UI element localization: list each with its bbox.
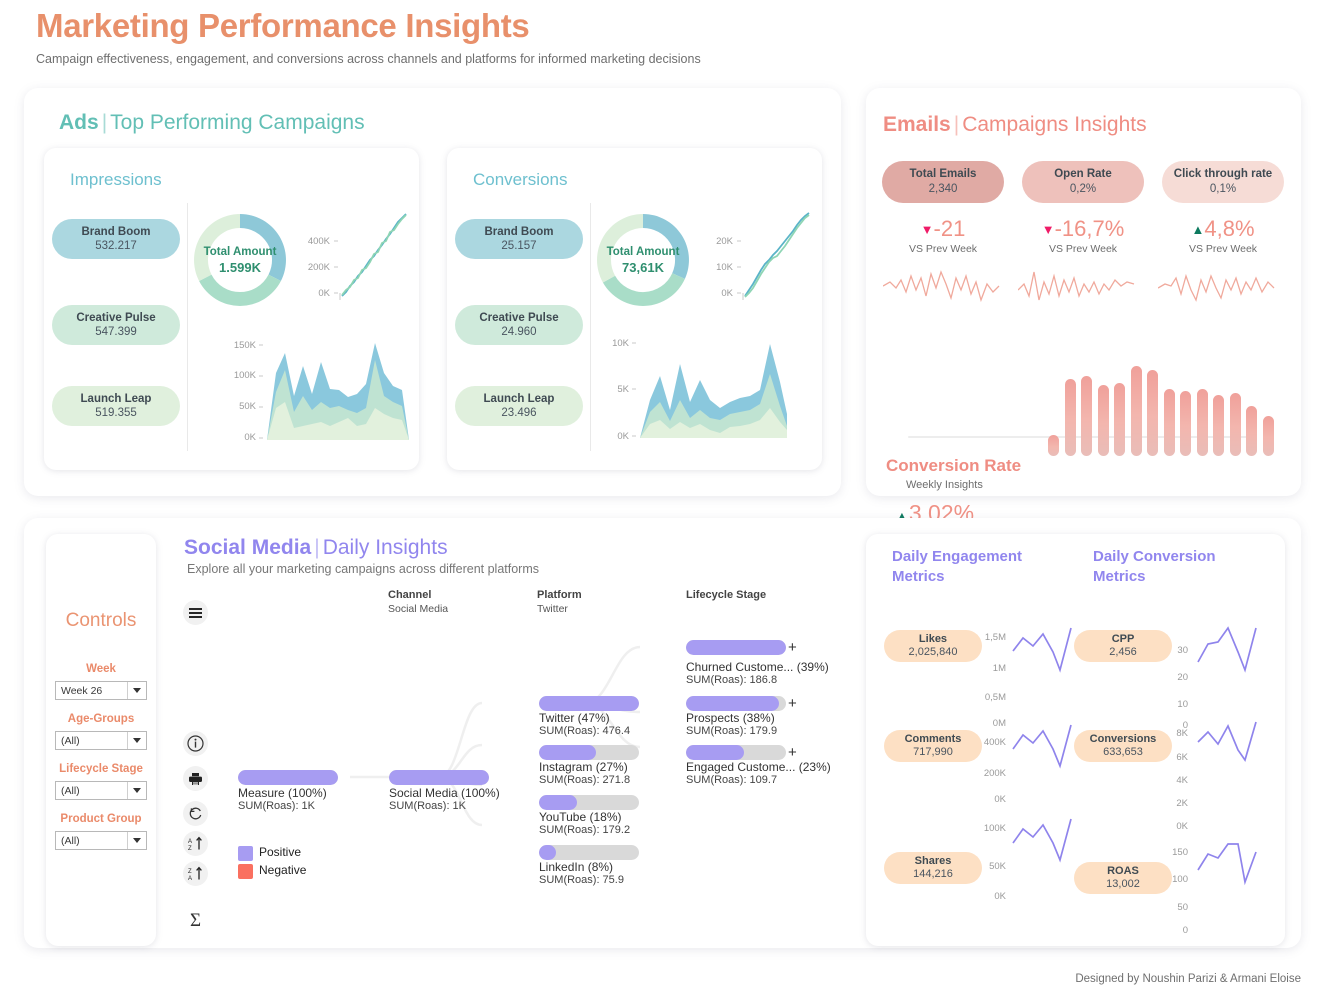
conversions-donut-chart: Total Amount 73,61K bbox=[588, 205, 698, 315]
emails-section-title: Emails|Campaigns Insights bbox=[883, 113, 1147, 137]
filter-value: Week 26 bbox=[56, 685, 127, 697]
emails-title-rest: Campaigns Insights bbox=[962, 113, 1146, 136]
conversion-rate-subtitle: Weekly Insights bbox=[906, 479, 983, 491]
impressions-area-chart: 150K 100K 50K 0K bbox=[214, 340, 414, 454]
ads-section-title: Ads|Top Performing Campaigns bbox=[59, 111, 365, 135]
social-title-bold: Social Media bbox=[184, 536, 311, 559]
kpi-name: Open Rate bbox=[1054, 167, 1112, 182]
campaign-pill-creative-pulse[interactable]: Creative Pulse 547.399 bbox=[52, 305, 180, 345]
sankey-value-churned-customers: SUM(Roas): 186.8 bbox=[686, 674, 777, 686]
sankey-value-engaged-customers: SUM(Roas): 109.7 bbox=[686, 774, 777, 786]
axis-tick: 50 bbox=[1160, 902, 1188, 913]
sparkline-likes bbox=[1011, 626, 1073, 674]
conversion-rate-bar bbox=[1180, 391, 1191, 456]
social-section-title: Social Media|Daily Insights bbox=[184, 536, 448, 560]
sankey-label-instagram: Instagram (27%) bbox=[539, 760, 628, 774]
filter-label-age-groups: Age-Groups bbox=[46, 713, 156, 725]
campaign-pill-launch-leap[interactable]: Launch Leap 23.496 bbox=[455, 386, 583, 426]
axis-tick: 2K bbox=[1160, 798, 1188, 809]
sankey-label-linkedin: LinkedIn (8%) bbox=[539, 860, 613, 874]
donut-value: 1.599K bbox=[185, 260, 295, 276]
social-title-sep: | bbox=[314, 536, 319, 559]
expand-icon[interactable]: + bbox=[788, 639, 797, 656]
metric-value: 144,216 bbox=[913, 868, 953, 881]
expand-icon[interactable]: + bbox=[788, 744, 797, 761]
kpi-name: Click through rate bbox=[1174, 167, 1272, 182]
sparkline-click-through-rate bbox=[1158, 270, 1278, 310]
axis-tick: 0K bbox=[970, 794, 1006, 805]
chevron-down-icon[interactable] bbox=[127, 682, 146, 699]
axis-tick: 200K bbox=[970, 768, 1006, 779]
axis-tick: 100K bbox=[970, 823, 1006, 834]
sankey-value-social-media: SUM(Roas): 1K bbox=[389, 800, 466, 812]
kpi-value: 0,1% bbox=[1210, 182, 1236, 197]
campaign-name: Brand Boom bbox=[82, 225, 151, 239]
conversion-rate-bar bbox=[1164, 389, 1175, 456]
campaign-pill-creative-pulse[interactable]: Creative Pulse 24.960 bbox=[455, 305, 583, 345]
conversions-title: Conversions bbox=[473, 170, 568, 190]
sparkline-cpp bbox=[1196, 626, 1258, 674]
metric-pill-comments[interactable]: Comments 717,990 bbox=[884, 730, 982, 762]
sankey-node-fill bbox=[686, 696, 779, 711]
metric-value: 2,025,840 bbox=[909, 646, 958, 659]
filter-label-lifecycle-stage: Lifecycle Stage bbox=[46, 763, 156, 775]
sankey-label-youtube: YouTube (18%) bbox=[539, 810, 622, 824]
metric-pill-shares[interactable]: Shares 144,216 bbox=[884, 852, 982, 884]
conversion-rate-bar bbox=[1147, 370, 1158, 456]
campaign-name: Creative Pulse bbox=[76, 311, 155, 325]
menu-icon[interactable] bbox=[183, 600, 208, 625]
axis-tick: 6K bbox=[1160, 752, 1188, 763]
axis-tick: 30 bbox=[1160, 645, 1188, 656]
sankey-value-prospects: SUM(Roas): 179.9 bbox=[686, 725, 777, 737]
svg-text:A: A bbox=[188, 839, 192, 845]
kpi-value: 0,2% bbox=[1070, 182, 1096, 197]
kpi-pill-open-rate[interactable]: Open Rate 0,2% bbox=[1022, 161, 1144, 203]
legend-label-positive: Positive bbox=[259, 845, 301, 859]
sankey-node-fill bbox=[539, 745, 596, 760]
donut-caption: Total Amount bbox=[588, 244, 698, 260]
conversion-rate-bar bbox=[1213, 395, 1224, 456]
conversion-rate-title: Conversion Rate bbox=[886, 456, 1021, 476]
svg-text:Z: Z bbox=[188, 869, 192, 875]
campaign-value: 519.355 bbox=[95, 406, 137, 420]
axis-tick: 0,5M bbox=[970, 692, 1006, 703]
daily-conversion-heading: Daily Conversion Metrics bbox=[1093, 547, 1233, 587]
axis-tick: 4K bbox=[1160, 775, 1188, 786]
sankey-value-twitter: SUM(Roas): 476.4 bbox=[539, 725, 630, 737]
metric-name: CPP bbox=[1112, 633, 1135, 646]
controls-panel: Controls Week Week 26 Age-Groups (All) L… bbox=[46, 534, 156, 946]
axis-tick: 8K bbox=[1160, 728, 1188, 739]
chevron-down-icon[interactable] bbox=[127, 782, 146, 799]
conversion-rate-bar bbox=[1065, 379, 1076, 456]
impressions-title: Impressions bbox=[70, 170, 162, 190]
sankey-node-fill bbox=[686, 640, 786, 655]
sankey-node-fill bbox=[539, 795, 577, 810]
campaign-value: 547.399 bbox=[95, 325, 137, 339]
dashboard-root: Marketing Performance Insights Campaign … bbox=[0, 0, 1325, 989]
sankey-col-head-lifecycle: Lifecycle Stage bbox=[686, 589, 766, 601]
axis-tick: 1M bbox=[970, 663, 1006, 674]
sankey-node-linkedin[interactable] bbox=[539, 845, 639, 860]
conversion-rate-bar bbox=[1197, 389, 1208, 456]
sankey-label-churned-customers: Churned Custome... (39%) bbox=[686, 660, 829, 674]
conversions-line-chart: 20K 10K 0K bbox=[697, 210, 815, 310]
metric-value: 13,002 bbox=[1106, 878, 1140, 891]
filter-select-week[interactable]: Week 26 bbox=[55, 681, 147, 700]
filter-value: (All) bbox=[56, 735, 127, 747]
campaign-value: 25.157 bbox=[501, 239, 536, 253]
page-title: Marketing Performance Insights bbox=[36, 6, 701, 46]
campaign-name: Brand Boom bbox=[485, 225, 554, 239]
filter-select-product-group[interactable]: (All) bbox=[55, 831, 147, 850]
sankey-node-fill bbox=[686, 745, 744, 760]
impressions-donut-label: Total Amount 1.599K bbox=[185, 244, 295, 276]
print-icon[interactable] bbox=[183, 766, 208, 791]
svg-text:A: A bbox=[188, 876, 192, 881]
filter-label-week: Week bbox=[46, 663, 156, 675]
info-icon[interactable] bbox=[183, 731, 208, 756]
sankey-node-social-media[interactable] bbox=[389, 770, 489, 785]
delta-caption: VS Prev Week bbox=[1158, 243, 1288, 255]
sparkline-shares bbox=[1011, 817, 1073, 865]
campaign-pill-launch-leap[interactable]: Launch Leap 519.355 bbox=[52, 386, 180, 426]
filter-value: (All) bbox=[56, 835, 127, 847]
metric-value: 633,653 bbox=[1103, 746, 1143, 759]
controls-title: Controls bbox=[46, 610, 156, 632]
axis-tick: 0M bbox=[970, 718, 1006, 729]
sankey-value-instagram: SUM(Roas): 271.8 bbox=[539, 774, 630, 786]
sparkline-comments bbox=[1011, 723, 1073, 771]
metric-name: Shares bbox=[915, 855, 952, 868]
sankey-label-engaged-customers: Engaged Custome... (23%) bbox=[686, 760, 831, 774]
axis-tick: 0K bbox=[1160, 821, 1188, 832]
sankey-node-twitter[interactable] bbox=[539, 696, 639, 711]
filter-select-age-groups[interactable]: (All) bbox=[55, 731, 147, 750]
svg-text:Z: Z bbox=[188, 846, 192, 851]
sankey-col-sub-platform: Twitter bbox=[537, 603, 568, 615]
sankey-label-prospects: Prospects (38%) bbox=[686, 711, 775, 725]
sankey-col-head-channel: Channel bbox=[388, 589, 431, 601]
filter-label-product-group: Product Group bbox=[46, 813, 156, 825]
delta-value: 4,8% bbox=[1204, 216, 1254, 241]
axis-tick: 1,5M bbox=[970, 632, 1006, 643]
triangle-up-icon: ▲ bbox=[1191, 222, 1204, 237]
filter-value: (All) bbox=[56, 785, 127, 797]
campaign-value: 23.496 bbox=[501, 406, 536, 420]
campaign-value: 532.217 bbox=[95, 239, 137, 253]
axis-tick: 20 bbox=[1160, 672, 1188, 683]
metric-name: Conversions bbox=[1090, 733, 1157, 746]
sankey-node-churned-customers[interactable] bbox=[686, 640, 786, 655]
conversion-rate-bar bbox=[1048, 435, 1059, 456]
triangle-down-icon: ▼ bbox=[921, 222, 934, 237]
footer-credit: Designed by Noushin Parizi & Armani Eloi… bbox=[1075, 973, 1301, 985]
conversions-card: Conversions Brand Boom 25.157 Creative P… bbox=[447, 148, 822, 470]
sankey-node-measure[interactable] bbox=[238, 770, 338, 785]
sankey-node-engaged-customers[interactable] bbox=[686, 745, 786, 760]
sparkline-total-emails bbox=[883, 270, 1003, 310]
metric-pill-roas[interactable]: ROAS 13,002 bbox=[1074, 862, 1172, 894]
conversion-rate-bar bbox=[1131, 366, 1142, 456]
sort-descending-icon[interactable]: A Z bbox=[183, 831, 208, 856]
campaign-name: Launch Leap bbox=[484, 392, 555, 406]
sankey-value-youtube: SUM(Roas): 179.2 bbox=[539, 824, 630, 836]
axis-tick: 50K bbox=[970, 861, 1006, 872]
expand-icon[interactable]: + bbox=[788, 695, 797, 712]
metric-name: Comments bbox=[905, 733, 962, 746]
social-title-rest: Daily Insights bbox=[323, 536, 448, 559]
sankey-value-linkedin: SUM(Roas): 75.9 bbox=[539, 874, 624, 886]
sankey-node-fill bbox=[539, 845, 556, 860]
emails-card: Emails|Campaigns Insights Total Emails 2… bbox=[866, 88, 1301, 496]
sankey-label-measure: Measure (100%) bbox=[238, 786, 327, 800]
sankey-node-fill bbox=[539, 696, 639, 711]
metric-pill-likes[interactable]: Likes 2,025,840 bbox=[884, 630, 982, 662]
donut-value: 73,61K bbox=[588, 260, 698, 276]
social-subtitle: Explore all your marketing campaigns acr… bbox=[187, 562, 539, 576]
conversion-rate-bar bbox=[1263, 416, 1274, 456]
sankey-col-sub-channel: Social Media bbox=[388, 603, 448, 615]
conversion-rate-bar-chart bbox=[1048, 366, 1280, 456]
donut-caption: Total Amount bbox=[185, 244, 295, 260]
filter-select-lifecycle-stage[interactable]: (All) bbox=[55, 781, 147, 800]
sigma-icon[interactable]: Σ bbox=[183, 908, 208, 933]
sankey-col-head-platform: Platform bbox=[537, 589, 582, 601]
metric-name: Likes bbox=[919, 633, 947, 646]
kpi-name: Total Emails bbox=[910, 167, 977, 182]
conversion-rate-bar bbox=[1114, 383, 1125, 456]
conversion-rate-bar bbox=[1098, 385, 1109, 456]
axis-tick: 0 bbox=[1160, 925, 1188, 936]
metric-value: 2,456 bbox=[1109, 646, 1137, 659]
conversion-rate-bar bbox=[1246, 406, 1257, 456]
ads-title-rest: Top Performing Campaigns bbox=[110, 111, 364, 134]
impressions-line-chart: 400K 200K 0K bbox=[294, 210, 412, 310]
sparkline-roas bbox=[1196, 840, 1258, 888]
kpi-pill-total-emails[interactable]: Total Emails 2,340 bbox=[882, 161, 1004, 203]
sort-ascending-icon[interactable]: Z A bbox=[183, 861, 208, 886]
campaign-pill-brand-boom[interactable]: Brand Boom 25.157 bbox=[455, 219, 583, 259]
sankey-node-instagram[interactable] bbox=[539, 745, 639, 760]
axis-tick: 150 bbox=[1160, 847, 1188, 858]
delta-caption: VS Prev Week bbox=[1018, 243, 1148, 255]
sankey-node-fill bbox=[389, 770, 489, 785]
conversions-area-chart: 10K 5K 0K bbox=[587, 328, 817, 454]
conversion-rate-bar bbox=[1230, 393, 1241, 456]
legend-swatch-negative bbox=[238, 864, 253, 879]
campaign-pill-brand-boom[interactable]: Brand Boom 532.217 bbox=[52, 219, 180, 259]
legend-label-negative: Negative bbox=[259, 863, 306, 877]
metric-name: ROAS bbox=[1107, 865, 1139, 878]
axis-tick: 100 bbox=[1160, 874, 1188, 885]
sankey-value-measure: SUM(Roas): 1K bbox=[238, 800, 315, 812]
sparkline-open-rate bbox=[1018, 270, 1138, 310]
sankey-node-fill bbox=[238, 770, 338, 785]
campaign-value: 24.960 bbox=[501, 325, 536, 339]
kpi-pill-click-through-rate[interactable]: Click through rate 0,1% bbox=[1162, 161, 1284, 203]
emails-title-bold: Emails bbox=[883, 113, 951, 136]
impressions-donut-chart: Total Amount 1.599K bbox=[185, 205, 295, 315]
axis-tick: 0K bbox=[970, 891, 1006, 902]
kpi-value: 2,340 bbox=[929, 182, 958, 197]
sankey-label-twitter: Twitter (47%) bbox=[539, 711, 610, 725]
conversions-donut-label: Total Amount 73,61K bbox=[588, 244, 698, 276]
metric-value: 717,990 bbox=[913, 746, 953, 759]
kpi-delta-total-emails: ▼-21 VS Prev Week bbox=[878, 216, 1008, 255]
sankey-node-youtube[interactable] bbox=[539, 795, 639, 810]
sankey-node-prospects[interactable] bbox=[686, 696, 786, 711]
daily-engagement-heading: Daily Engagement Metrics bbox=[892, 547, 1032, 587]
kpi-delta-open-rate: ▼-16,7% VS Prev Week bbox=[1018, 216, 1148, 255]
conversion-rate-bar bbox=[1081, 376, 1092, 456]
emails-title-sep: | bbox=[954, 113, 959, 136]
triangle-down-icon: ▼ bbox=[1042, 222, 1055, 237]
chevron-down-icon[interactable] bbox=[127, 832, 146, 849]
page-header: Marketing Performance Insights Campaign … bbox=[36, 6, 701, 67]
refresh-icon[interactable] bbox=[183, 801, 208, 826]
ads-title-bold: Ads bbox=[59, 111, 99, 134]
sankey-label-social-media: Social Media (100%) bbox=[389, 786, 500, 800]
axis-tick: 400K bbox=[970, 737, 1006, 748]
metric-pill-cpp[interactable]: CPP 2,456 bbox=[1074, 630, 1172, 662]
chevron-down-icon[interactable] bbox=[127, 732, 146, 749]
kpi-delta-click-through-rate: ▲4,8% VS Prev Week bbox=[1158, 216, 1288, 255]
impressions-card: Impressions Brand Boom 532.217 Creative … bbox=[44, 148, 419, 470]
metric-pill-conversions[interactable]: Conversions 633,653 bbox=[1074, 730, 1172, 762]
page-subtitle: Campaign effectiveness, engagement, and … bbox=[36, 51, 701, 67]
delta-value: -16,7% bbox=[1055, 216, 1125, 241]
axis-tick: 10 bbox=[1160, 699, 1188, 710]
sparkline-conversions bbox=[1196, 720, 1258, 768]
metrics-panel: Daily Engagement Metrics Daily Conversio… bbox=[866, 534, 1285, 946]
campaign-name: Launch Leap bbox=[81, 392, 152, 406]
legend-swatch-positive bbox=[238, 846, 253, 861]
campaign-name: Creative Pulse bbox=[479, 311, 558, 325]
delta-value: -21 bbox=[934, 216, 966, 241]
delta-caption: VS Prev Week bbox=[878, 243, 1008, 255]
ads-title-sep: | bbox=[102, 111, 107, 134]
